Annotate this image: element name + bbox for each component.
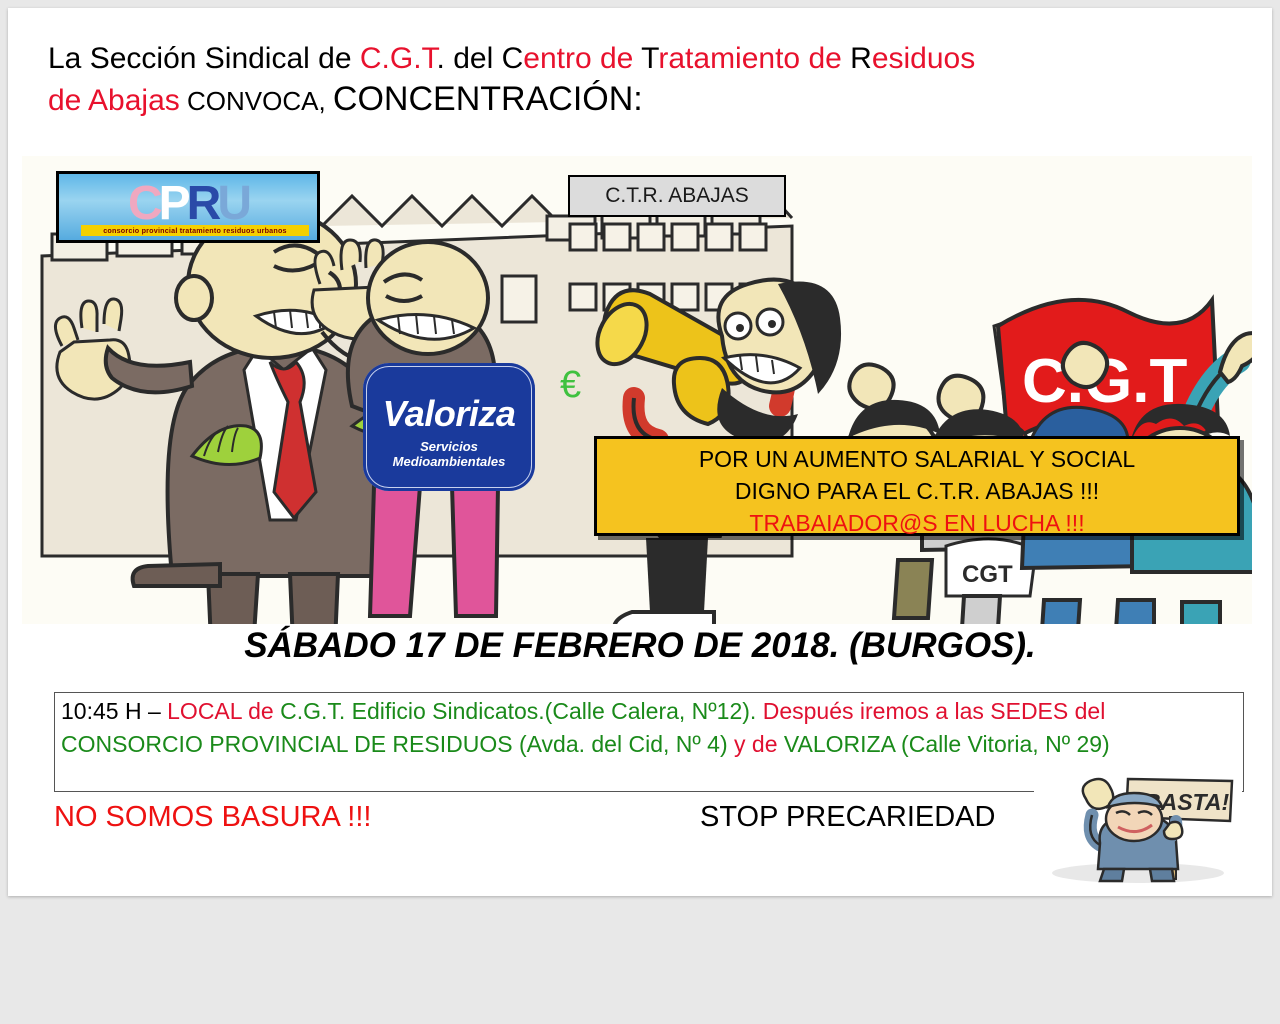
demand-banner: POR UN AUMENTO SALARIAL Y SOCIAL DIGNO P… bbox=[594, 436, 1240, 536]
title-line-1: La Sección Sindical de C.G.T. del Centro… bbox=[48, 40, 1238, 78]
cpru-logo-glyph: CPRU bbox=[128, 176, 248, 231]
title-seg-convoca: CONVOCA, bbox=[180, 86, 333, 116]
title-seg-t: T bbox=[641, 42, 658, 75]
detail-seg-consorcio-address: CONSORCIO PROVINCIAL DE RESIDUOS (Avda. … bbox=[61, 731, 734, 757]
event-time: 10:45 H – bbox=[61, 698, 167, 724]
valoriza-logo-name: Valoriza bbox=[363, 393, 535, 435]
title-seg-r: R bbox=[850, 42, 872, 75]
detail-seg-valoriza-address: VALORIZA (Calle Vitoria, Nº 29) bbox=[784, 731, 1110, 757]
ctr-abajas-sign-label: C.T.R. ABAJAS bbox=[605, 184, 749, 208]
cpru-glyph-u: U bbox=[217, 177, 248, 230]
title-seg-esiduos: esiduos bbox=[872, 42, 975, 75]
shirt-label: CGT bbox=[962, 561, 1013, 588]
demand-banner-line-3: TRABAIADOR@S EN LUCHA !!! bbox=[597, 507, 1237, 539]
basta-worker-illustration: BASTA! bbox=[1034, 765, 1242, 887]
title-seg-c: C bbox=[502, 42, 524, 75]
title-seg-abajas: de Abajas bbox=[48, 84, 180, 117]
cpru-glyph-p: P bbox=[159, 177, 187, 230]
basta-svg: BASTA! bbox=[1034, 765, 1242, 887]
slogan-no-somos-basura: NO SOMOS BASURA !!! bbox=[54, 801, 371, 834]
demand-banner-line-2: DIGNO PARA EL C.T.R. ABAJAS !!! bbox=[597, 475, 1237, 507]
cpru-logo: CPRU consorcio provincial tratamiento re… bbox=[56, 171, 320, 243]
euro-symbol-icon: € bbox=[560, 364, 581, 407]
detail-seg-cgt-address: C.G.T. Edificio Sindicatos.(Calle Calera… bbox=[280, 698, 763, 724]
detail-seg-despues: Después iremos a las SEDES del bbox=[763, 698, 1106, 724]
detail-seg-local: LOCAL de bbox=[167, 698, 280, 724]
valoriza-logo: Valoriza Servicios Medioambientales bbox=[363, 363, 535, 491]
title-seg-entro: entro de bbox=[523, 42, 641, 75]
detail-seg-yde: y de bbox=[734, 731, 784, 757]
title-seg-cgt: C.G.T bbox=[360, 42, 437, 75]
ctr-abajas-sign: C.T.R. ABAJAS bbox=[568, 175, 786, 217]
cpru-glyph-r: R bbox=[187, 177, 218, 230]
cpru-logo-caption: consorcio provincial tratamiento residuo… bbox=[81, 225, 309, 236]
title-seg-ratamiento: ratamiento de bbox=[658, 42, 850, 75]
valoriza-logo-sub2: Medioambientales bbox=[363, 454, 535, 469]
slogan-stop-precariedad: STOP PRECARIEDAD bbox=[700, 801, 995, 834]
valoriza-logo-sub1: Servicios bbox=[363, 439, 535, 454]
title-line-2: de Abajas CONVOCA, CONCENTRACIÓN: bbox=[48, 78, 1238, 122]
poster-page: La Sección Sindical de C.G.T. del Centro… bbox=[8, 8, 1272, 896]
page-title: La Sección Sindical de C.G.T. del Centro… bbox=[48, 40, 1238, 122]
title-seg-concentracion: CONCENTRACIÓN: bbox=[333, 80, 643, 118]
demand-banner-line-1: POR UN AUMENTO SALARIAL Y SOCIAL bbox=[597, 443, 1237, 475]
cpru-glyph-c: C bbox=[128, 177, 159, 230]
title-seg-2: . del bbox=[437, 42, 502, 75]
title-seg-1: La Sección Sindical de bbox=[48, 42, 360, 75]
event-date: SÁBADO 17 DE FEBRERO DE 2018. (BURGOS). bbox=[8, 626, 1272, 666]
